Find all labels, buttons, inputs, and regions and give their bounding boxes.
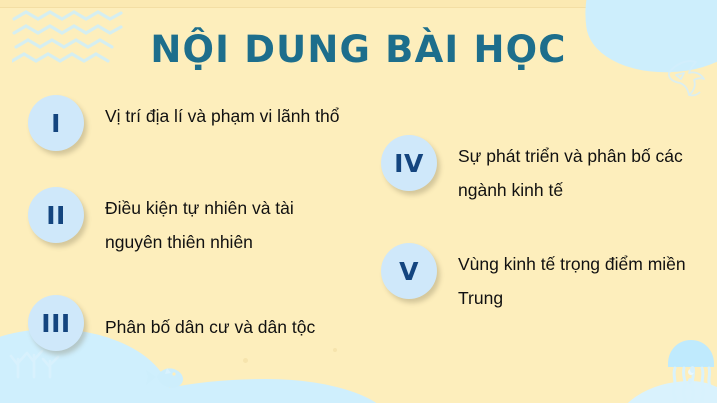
blob-icon-bottom-right <box>613 381 717 403</box>
page-title: NỘI DUNG BÀI HỌC <box>0 28 717 72</box>
list-item-label: Sự phát triển và phân bố các ngành kinh … <box>458 135 694 207</box>
blob-icon-bottom-left-tail <box>92 379 392 403</box>
bubble-icon-1 <box>690 366 695 373</box>
list-item-label: Vùng kinh tế trọng điểm miền Trung <box>458 243 694 315</box>
numeral-badge-i: I <box>28 95 84 151</box>
list-item-label: Vị trí địa lí và phạm vi lãnh thổ <box>105 95 339 134</box>
numeral-badge-ii: II <box>28 187 84 243</box>
fish-icon <box>143 363 189 391</box>
list-item[interactable]: II Điều kiện tự nhiên và tài nguyên thiê… <box>28 187 358 259</box>
numeral-badge-iii: III <box>28 295 84 351</box>
top-edge-strip <box>0 0 717 8</box>
bubble-icon-2 <box>688 378 692 384</box>
slide-canvas: NỘI DUNG BÀI HỌC I Vị trí địa lí và phạm… <box>0 0 717 403</box>
content-column-left: I Vị trí địa lí và phạm vi lãnh thổ II Đ… <box>28 95 358 351</box>
content-column-right: IV Sự phát triển và phân bố các ngành ki… <box>381 135 711 351</box>
speck-icon-1 <box>243 358 248 363</box>
numeral-badge-v: V <box>381 243 437 299</box>
list-item-label: Điều kiện tự nhiên và tài nguyên thiên n… <box>105 187 345 259</box>
list-item-label: Phân bố dân cư và dân tộc <box>105 295 315 345</box>
list-item[interactable]: III Phân bố dân cư và dân tộc <box>28 295 358 351</box>
list-item[interactable]: V Vùng kinh tế trọng điểm miền Trung <box>381 243 711 315</box>
numeral-badge-iv: IV <box>381 135 437 191</box>
list-item[interactable]: I Vị trí địa lí và phạm vi lãnh thổ <box>28 95 358 151</box>
list-item[interactable]: IV Sự phát triển và phân bố các ngành ki… <box>381 135 711 207</box>
